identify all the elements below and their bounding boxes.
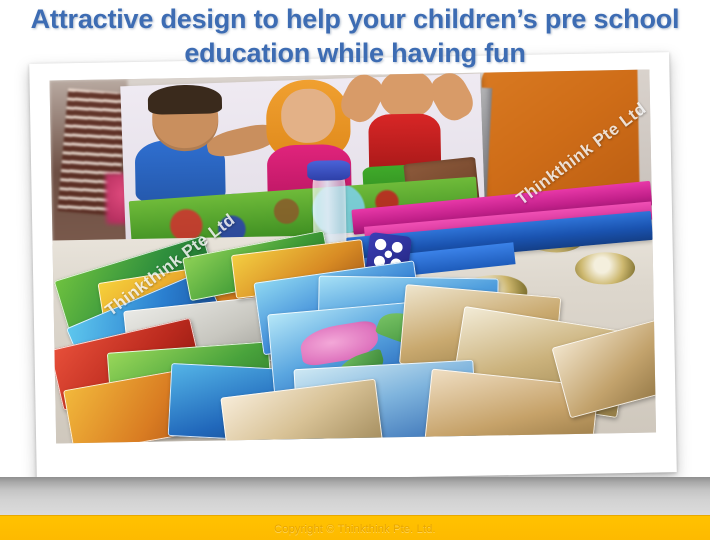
copyright-text: Copyright © Thinkthink Pte. Ltd.	[274, 523, 436, 535]
footer-bar: Copyright © Thinkthink Pte. Ltd.	[0, 515, 710, 540]
presentation-slide: Attractive design to help your children’…	[0, 0, 710, 540]
gray-gradient-separator	[0, 477, 710, 515]
title-line-1: Attractive design to help your children’…	[8, 2, 702, 36]
photo-scene: Thinkthink Pte Ltd Thinkthink Pte Ltd	[50, 70, 657, 444]
cartoon-child-head	[379, 70, 434, 118]
cartoon-boy-hair	[148, 85, 222, 115]
cartoon-girl-face	[281, 88, 336, 143]
sand-timer-blue-cap	[307, 160, 351, 181]
photo-frame: Thinkthink Pte Ltd Thinkthink Pte Ltd	[29, 52, 677, 484]
photo-image: Thinkthink Pte Ltd Thinkthink Pte Ltd	[50, 70, 657, 444]
